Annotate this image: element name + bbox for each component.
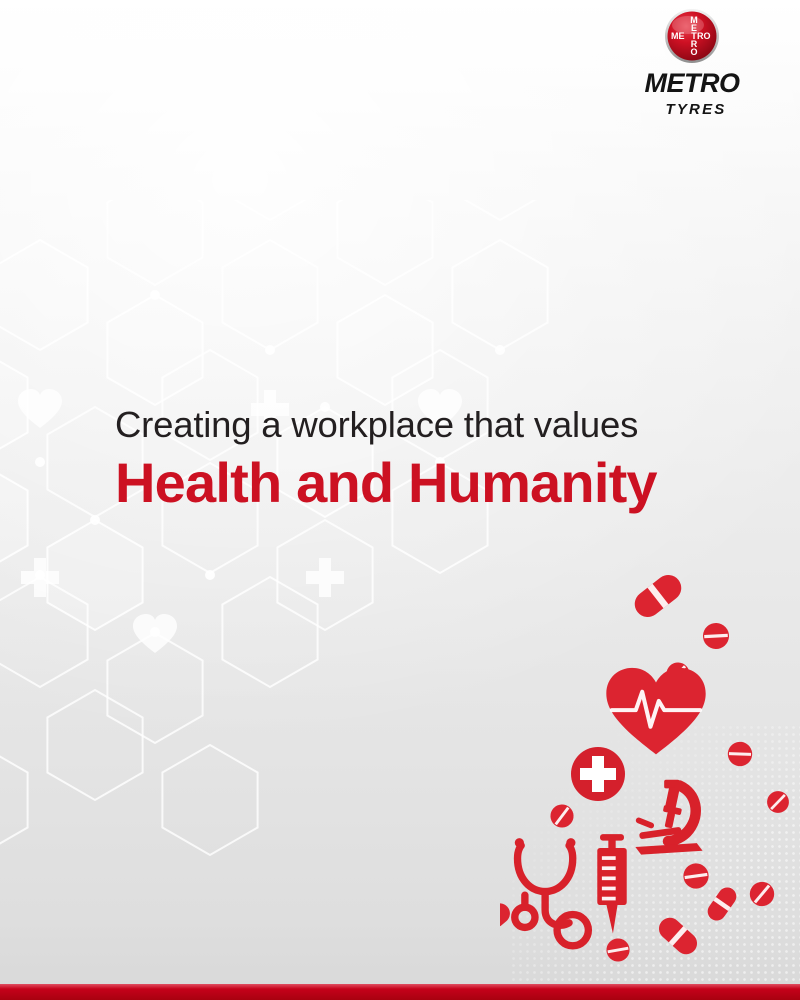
icon-stethoscope	[515, 838, 589, 946]
icon-capsule-4	[704, 884, 740, 924]
bottom-accent-bar	[0, 984, 800, 1000]
icon-heart-pulse	[606, 668, 705, 754]
medical-icon-cluster	[500, 564, 800, 984]
icon-syringe	[597, 834, 626, 933]
headline-block: Creating a workplace that values Health …	[115, 405, 735, 513]
headline-title: Health and Humanity	[115, 453, 735, 512]
icon-pill-1	[699, 619, 734, 654]
metro-badge-icon: M E T R O ME RO	[664, 8, 720, 64]
wordmark-metro: METRO	[645, 68, 740, 98]
poster-canvas: M E T R O ME RO METRO TYRES Creating a w…	[0, 0, 800, 1000]
hex-grid	[0, 200, 548, 855]
icon-pill-3	[723, 737, 756, 770]
hexagon-pattern-background	[0, 200, 700, 940]
icon-pill-8	[764, 788, 792, 816]
hex-glyph-heart-1	[18, 389, 62, 428]
hex-glyph-cross-3	[306, 558, 344, 597]
icon-capsule-1	[630, 570, 687, 623]
icon-medical-cross	[571, 747, 625, 801]
halftone-dot-texture	[510, 724, 800, 984]
icon-pill-6	[746, 878, 778, 910]
svg-text:ME: ME	[671, 31, 685, 41]
bar-gloss-highlight	[0, 984, 800, 989]
hex-glyph-cross-2	[21, 558, 59, 597]
headline-subtitle: Creating a workplace that values	[115, 405, 735, 444]
svg-text:RO: RO	[697, 31, 711, 41]
icon-capsule-2	[500, 899, 514, 941]
metro-tyres-wordmark: METRO TYRES	[632, 64, 752, 120]
svg-text:O: O	[690, 47, 697, 57]
icon-pill-7	[603, 935, 632, 964]
icon-pill-4	[547, 801, 578, 832]
metro-tyres-logo: M E T R O ME RO METRO TYRES	[632, 8, 752, 120]
icon-pill-5	[680, 860, 712, 892]
wordmark-tyres: TYRES	[665, 101, 726, 118]
icon-pill-2	[663, 659, 693, 689]
icon-microscope	[635, 780, 703, 855]
hex-glyph-heart-3	[133, 614, 177, 653]
icon-capsule-3	[654, 913, 701, 958]
